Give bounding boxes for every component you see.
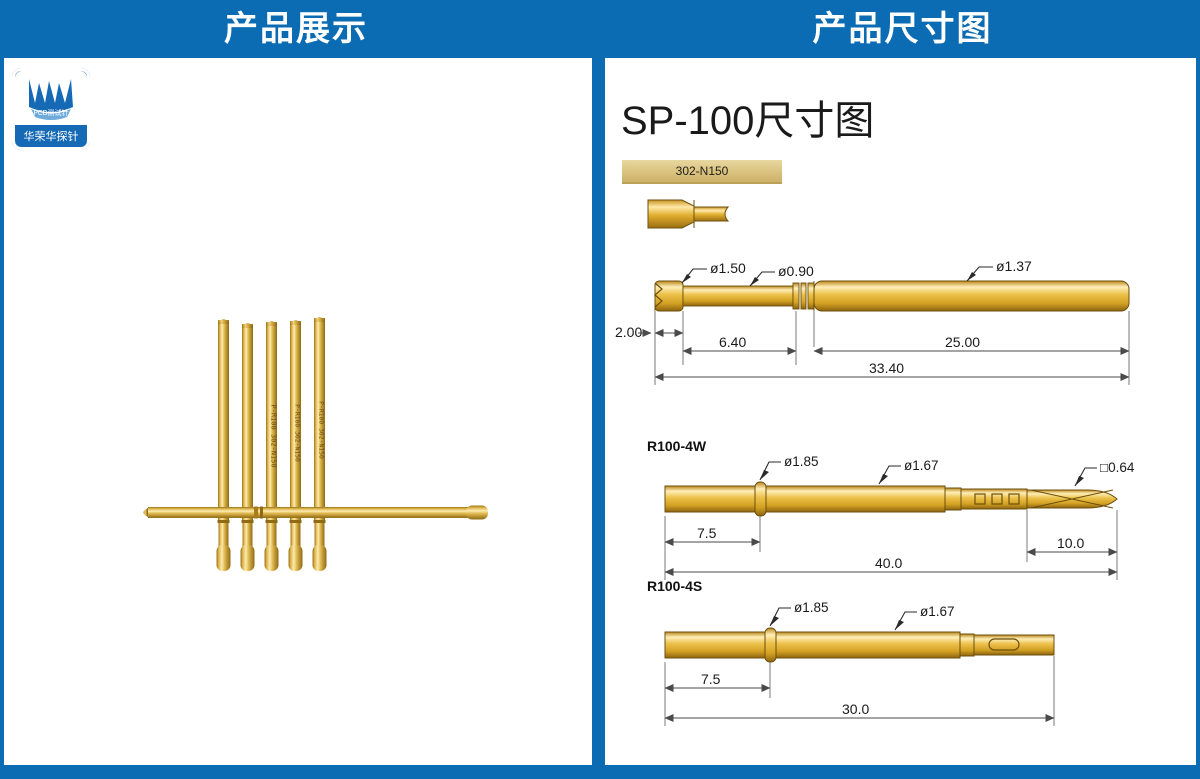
logo-inner: PCB测试针 华荣华探针 (15, 71, 87, 147)
right-frame-edge (1196, 58, 1200, 765)
right-panel-header: 产品尺寸图 (605, 0, 1200, 58)
dim-l200: 2.00 (615, 324, 642, 340)
dim-l300: 30.0 (842, 701, 869, 717)
footer-bar (0, 765, 1200, 779)
dim-d167: ø1.67 (904, 458, 939, 473)
drawing-r100-4s: ø1.85 ø1.67 7.5 30.0 (607, 570, 1196, 765)
dim-l75b: 7.5 (701, 671, 721, 687)
drawing-title: SP-100尺寸图 (621, 88, 874, 146)
dimension-text: P-R100 302-N150 (294, 404, 302, 462)
product-code-bar: 302-N150 (622, 160, 782, 184)
dim-l640: 6.40 (719, 334, 746, 350)
product-code-label: 302-N150 (676, 164, 729, 178)
dim-d150: ø1.50 (710, 260, 746, 276)
brand-logo: PCB测试针 华荣华探针 (12, 68, 90, 150)
dimension-text: P-R100 302-N150 (318, 401, 326, 459)
crown-mark-icon: PCB测试针 (15, 73, 87, 125)
product-photo-panel: P-R100 302-N150 P-R100 302-N150 (4, 60, 588, 763)
dim-d167b: ø1.67 (920, 604, 955, 619)
left-header-title: 产品展示 (224, 12, 368, 46)
dimension-drawing-panel: SP-100尺寸图 302-N150 (607, 60, 1196, 763)
dim-s064: □0.64 (1100, 460, 1135, 475)
panel-divider (592, 0, 605, 765)
dim-d090: ø0.90 (778, 263, 814, 279)
right-header-title: 产品尺寸图 (813, 12, 993, 46)
product-detail-page: 产品展示 产品尺寸图 (0, 0, 1200, 779)
mini-probe-illustration (642, 190, 762, 236)
dimension-text: PCB测试针 (34, 108, 69, 117)
dim-d137: ø1.37 (996, 258, 1032, 274)
left-panel-header: 产品展示 (0, 0, 592, 58)
dim-d185: ø1.85 (784, 454, 819, 469)
logo-label: 华荣华探针 (15, 125, 87, 147)
dim-l2500: 25.00 (945, 334, 980, 350)
dimension-text: P-R100 302-N150 (270, 404, 278, 467)
dim-l3340: 33.40 (869, 360, 904, 376)
product-photo: P-R100 302-N150 P-R100 302-N150 (4, 60, 588, 763)
dim-d185b: ø1.85 (794, 600, 829, 615)
dim-l400: 40.0 (875, 555, 902, 571)
dim-l100: 10.0 (1057, 535, 1084, 551)
dim-l75: 7.5 (697, 525, 717, 541)
